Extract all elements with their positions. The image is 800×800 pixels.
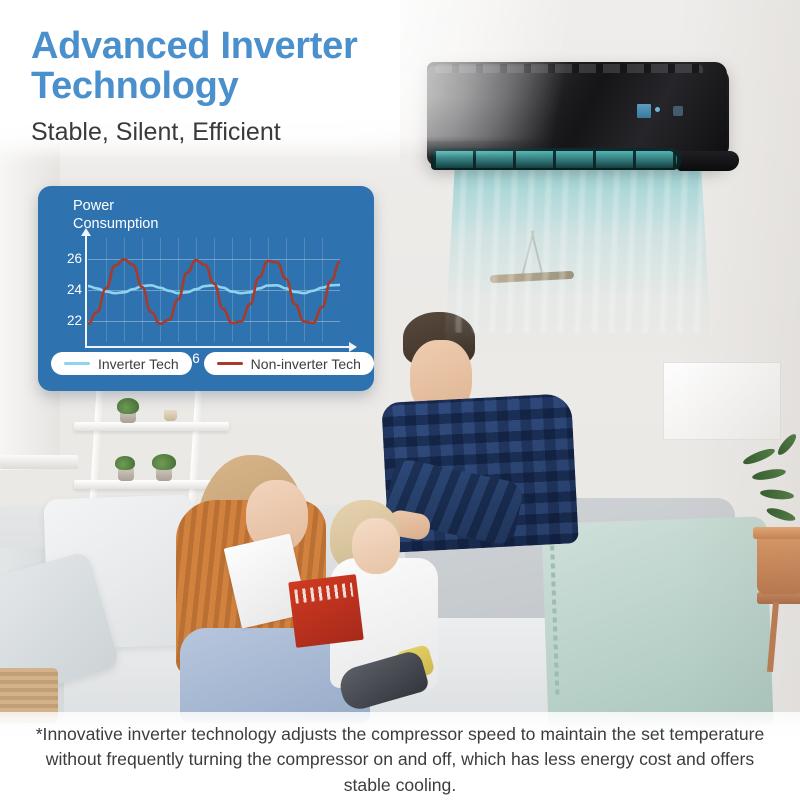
legend-item-0[interactable]: Inverter Tech (51, 352, 192, 375)
shelf-board-upper (74, 422, 229, 431)
chart-y-axis (85, 234, 87, 348)
y-tick-label: 26 (52, 251, 82, 266)
headline-line-2: Technology (31, 66, 461, 106)
page-title: Advanced Inverter Technology (31, 26, 461, 107)
shelf-plant-top (117, 398, 139, 414)
chart-x-axis (85, 346, 351, 348)
child-face (352, 518, 400, 574)
y-tick-label: 22 (52, 313, 82, 328)
legend-label: Non-inverter Tech (251, 356, 361, 372)
window-sill (0, 455, 78, 469)
series-line-inverter-tech (88, 285, 340, 293)
chart-plot-area (88, 246, 340, 334)
legend-label: Inverter Tech (98, 356, 179, 372)
shelf-plant-mid-left (115, 456, 135, 470)
power-consumption-chart: Power Consumption 222426 24681012 Time I… (38, 186, 374, 391)
shelf-vase (164, 410, 177, 421)
chart-legend: Inverter TechNon-inverter Tech (51, 352, 374, 375)
legend-item-1[interactable]: Non-inverter Tech (204, 352, 374, 375)
chart-y-axis-label: Power Consumption (73, 198, 213, 233)
headline-line-1: Advanced Inverter (31, 26, 461, 66)
y-tick-label: 24 (52, 282, 82, 297)
shelf-plant-mid-right (152, 454, 176, 470)
chart-x-axis-arrow (349, 342, 357, 352)
red-magazine (288, 574, 364, 648)
page-subtitle: Stable, Silent, Efficient (31, 118, 281, 147)
cool-airflow-streaks (444, 168, 712, 333)
chart-y-axis-label-line1: Power (73, 198, 213, 216)
chart-y-axis-label-line2: Consumption (73, 216, 213, 234)
footer-disclaimer: *Innovative inverter technology adjusts … (0, 722, 800, 798)
legend-swatch-icon (64, 362, 90, 365)
product-marketing-image: Advanced Inverter Technology Stable, Sil… (0, 0, 800, 800)
legend-swatch-icon (217, 362, 243, 365)
